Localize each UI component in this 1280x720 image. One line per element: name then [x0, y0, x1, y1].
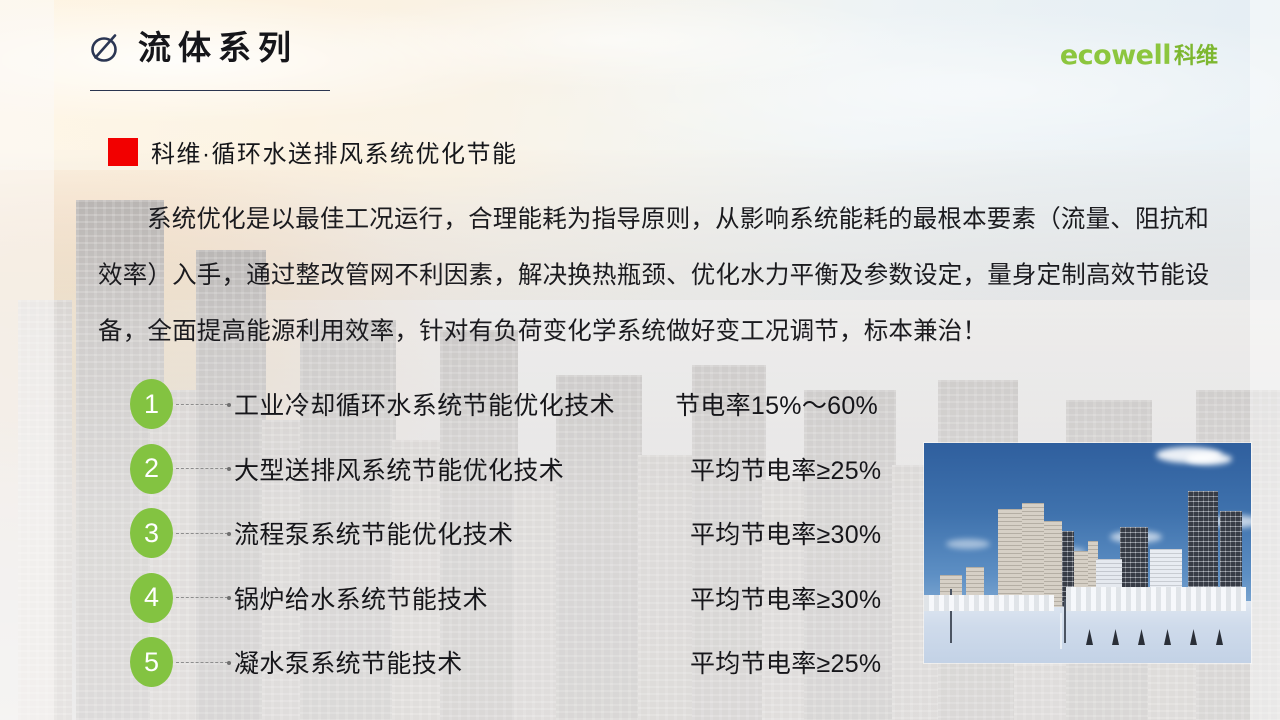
section-subtitle: 科维·循环水送排风系统优化节能: [108, 134, 518, 169]
industrial-plant-winter-photo: [924, 443, 1251, 663]
connector-dashed-line: [176, 404, 228, 405]
list-item-value: 平均节电率≥25%: [690, 451, 881, 487]
list-item-label: 流程泵系统节能优化技术: [234, 515, 513, 551]
slide-canvas: 流体系列 ecowell 科维 科维·循环水送排风系统优化节能 系统优化是以最佳…: [0, 0, 1280, 720]
list-item[interactable]: 3 流程泵系统节能优化技术 平均节电率≥30%: [130, 501, 930, 566]
list-number-badge: 1: [130, 379, 173, 429]
list-item[interactable]: 1 工业冷却循环水系统节能优化技术 节电率15%～60%: [130, 372, 930, 437]
ecowell-logo: ecowell 科维: [1060, 42, 1218, 69]
page-title: 流体系列: [88, 30, 298, 64]
list-number-badge: 2: [130, 444, 173, 494]
list-item-value: 平均节电率≥25%: [690, 644, 881, 680]
connector-dashed-line: [176, 533, 228, 534]
list-item-value: 平均节电率≥30%: [690, 515, 881, 551]
list-item[interactable]: 2 大型送排风系统节能优化技术 平均节电率≥25%: [130, 437, 930, 502]
list-item-label: 大型送排风系统节能优化技术: [234, 451, 564, 487]
page-title-text: 流体系列: [138, 31, 298, 64]
list-number-badge: 4: [130, 573, 173, 623]
technology-list: 1 工业冷却循环水系统节能优化技术 节电率15%～60% 2 大型送排风系统节能…: [130, 372, 930, 695]
slide-header: 流体系列 ecowell 科维: [0, 0, 1280, 110]
logo-en-text: ecowell: [1060, 42, 1171, 69]
list-number-badge: 5: [130, 637, 173, 687]
list-item[interactable]: 5 凝水泵系统节能技术 平均节电率≥25%: [130, 630, 930, 695]
list-item-value: 平均节电率≥30%: [690, 580, 881, 616]
body-paragraph-text: 系统优化是以最佳工况运行，合理能耗为指导原则，从影响系统能耗的最根本要素（流量、…: [98, 192, 1230, 360]
circle-slash-icon: [88, 30, 122, 64]
connector-dashed-line: [176, 662, 228, 663]
red-square-bullet-icon: [108, 138, 138, 166]
list-item-value: 节电率15%～60%: [675, 386, 878, 422]
connector-dashed-line: [176, 468, 228, 469]
list-item-label: 凝水泵系统节能技术: [234, 644, 463, 680]
list-item[interactable]: 4 锅炉给水系统节能技术 平均节电率≥30%: [130, 566, 930, 631]
connector-dashed-line: [176, 597, 228, 598]
section-subtitle-text: 科维·循环水送排风系统优化节能: [151, 134, 518, 169]
list-item-label: 锅炉给水系统节能技术: [234, 580, 488, 616]
list-number-badge: 3: [130, 508, 173, 558]
title-underline: [90, 90, 330, 91]
logo-cn-text: 科维: [1174, 45, 1218, 67]
body-paragraph: 系统优化是以最佳工况运行，合理能耗为指导原则，从影响系统能耗的最根本要素（流量、…: [98, 192, 1230, 360]
list-item-label: 工业冷却循环水系统节能优化技术: [234, 386, 615, 422]
